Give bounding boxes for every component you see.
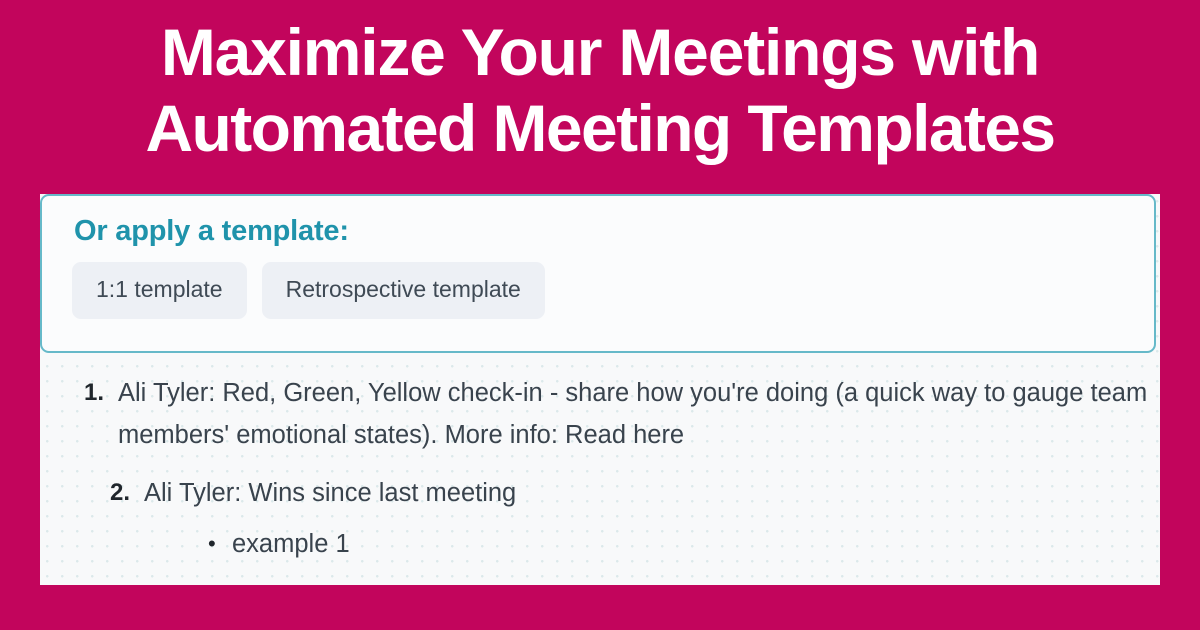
page-title: Maximize Your Meetings with Automated Me… bbox=[0, 14, 1200, 166]
app-screenshot-panel: Or apply a template: 1:1 template Retros… bbox=[40, 194, 1160, 585]
agenda-list: 1. Ali Tyler: Red, Green, Yellow check-i… bbox=[40, 372, 1160, 562]
template-card-title: Or apply a template: bbox=[74, 213, 349, 249]
agenda-item[interactable]: 2. Ali Tyler: Wins since last meeting bbox=[40, 472, 1160, 514]
agenda-item-marker: 2. bbox=[110, 472, 144, 514]
template-buttons-group: 1:1 template Retrospective template bbox=[72, 262, 545, 319]
agenda-sub-item-text: example 1 bbox=[232, 526, 1160, 562]
apply-retrospective-template-button[interactable]: Retrospective template bbox=[262, 262, 545, 319]
agenda-item[interactable]: 1. Ali Tyler: Red, Green, Yellow check-i… bbox=[40, 372, 1160, 456]
agenda-item-text: Ali Tyler: Wins since last meeting bbox=[144, 472, 1050, 514]
agenda-item-marker: 1. bbox=[84, 372, 118, 414]
agenda-item-text: Ali Tyler: Red, Green, Yellow check-in -… bbox=[118, 372, 1160, 456]
page-title-line-2: Automated Meeting Templates bbox=[18, 90, 1182, 166]
page-title-line-1: Maximize Your Meetings with bbox=[18, 14, 1182, 90]
bullet-icon: • bbox=[208, 526, 232, 562]
poster-canvas: Maximize Your Meetings with Automated Me… bbox=[0, 0, 1200, 630]
agenda-sub-item[interactable]: • example 1 bbox=[40, 526, 1160, 562]
template-card: Or apply a template: 1:1 template Retros… bbox=[40, 194, 1156, 353]
apply-1-1-template-button[interactable]: 1:1 template bbox=[72, 262, 247, 319]
